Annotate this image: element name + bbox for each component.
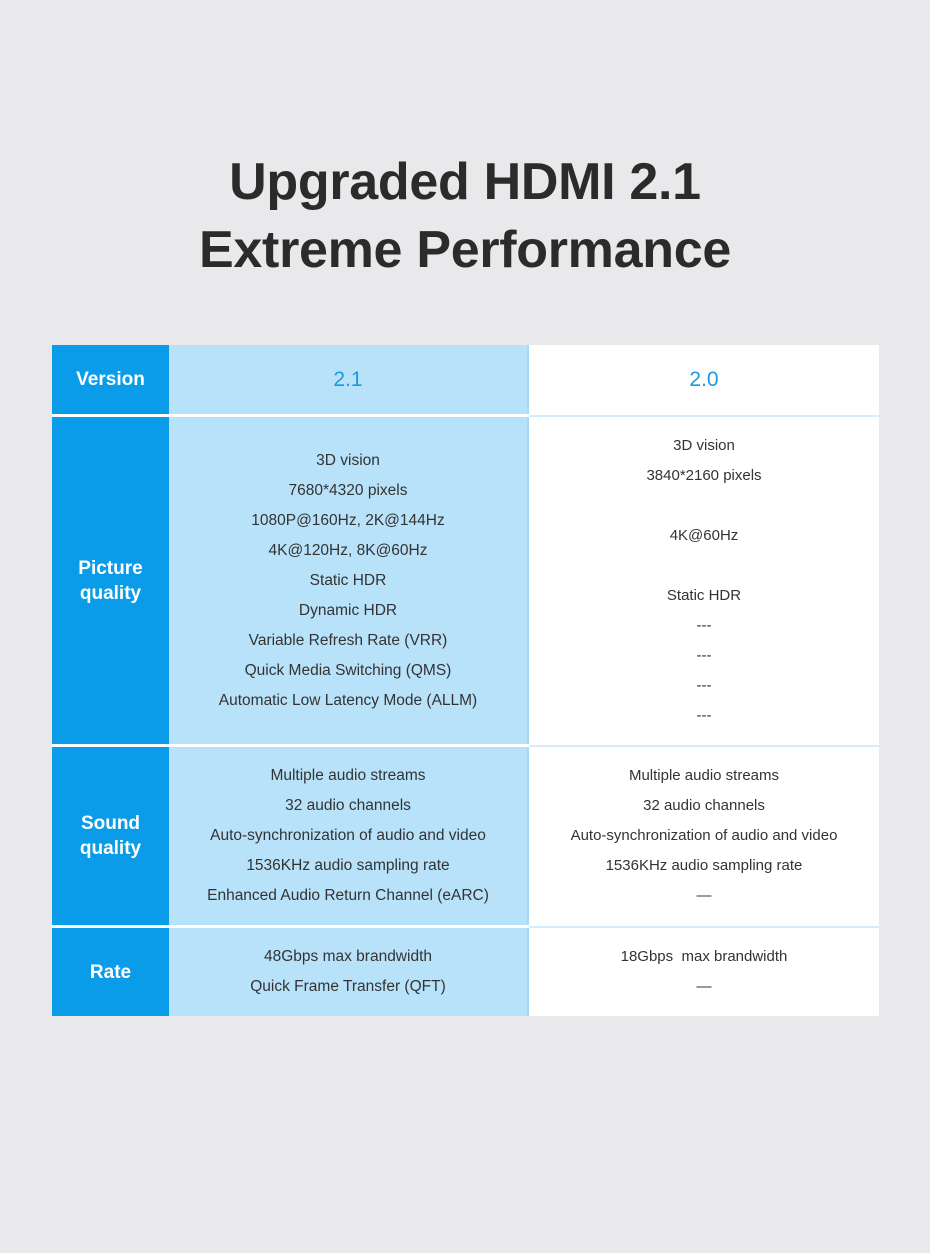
- cell-line: Picture: [52, 556, 169, 581]
- cell-line: 32 audio channels: [537, 791, 871, 821]
- cell-rate-20: 18Gbps max brandwidth—: [528, 927, 879, 1017]
- cell-line: 1080P@160Hz, 2K@144Hz: [177, 506, 519, 536]
- cell-line: 4K@120Hz, 8K@60Hz: [177, 536, 519, 566]
- cell-line: 3840*2160 pixels: [537, 461, 871, 491]
- cell-line: quality: [52, 836, 169, 861]
- table-row: Rate 48Gbps max brandwidthQuick Frame Tr…: [52, 927, 879, 1017]
- cell-lines: 3D vision7680*4320 pixels1080P@160Hz, 2K…: [177, 446, 519, 716]
- cell-line: Multiple audio streams: [177, 761, 519, 791]
- comparison-infographic: Upgraded HDMI 2.1 Extreme Performance Ve…: [0, 0, 930, 1253]
- cell-line: Variable Refresh Rate (VRR): [177, 626, 519, 656]
- cell-line: 18Gbps max brandwidth: [537, 942, 871, 972]
- cell-lines: Multiple audio streams32 audio channelsA…: [177, 761, 519, 911]
- cell-lines: 18Gbps max brandwidth—: [537, 942, 871, 1002]
- hdmi-comparison-table: Version 2.1 2.0 Picturequality 3D vision…: [52, 345, 879, 1016]
- cell-rate-21: 48Gbps max brandwidthQuick Frame Transfe…: [169, 927, 528, 1017]
- cell-line: ---: [537, 641, 871, 671]
- table-row: Picturequality 3D vision7680*4320 pixels…: [52, 416, 879, 746]
- cell-line: Auto-synchronization of audio and video: [537, 821, 871, 851]
- cell-line: quality: [52, 581, 169, 606]
- cell-line: Quick Media Switching (QMS): [177, 656, 519, 686]
- cell-lines: 3D vision3840*2160 pixels 4K@60Hz Static…: [537, 431, 871, 731]
- cell-line: 3D vision: [537, 431, 871, 461]
- cell-line: ---: [537, 701, 871, 731]
- cell-line: Automatic Low Latency Mode (ALLM): [177, 686, 519, 716]
- cell-line: 1536KHz audio sampling rate: [177, 851, 519, 881]
- row-label-lines: Rate: [52, 960, 169, 985]
- cell-lines: Multiple audio streams32 audio channelsA…: [537, 761, 871, 911]
- cell-line: ---: [537, 611, 871, 641]
- cell-sound-quality-21: Multiple audio streams32 audio channelsA…: [169, 746, 528, 927]
- header-label-version: Version: [52, 345, 169, 416]
- cell-line: Enhanced Audio Return Channel (eARC): [177, 881, 519, 911]
- cell-picture-quality-20: 3D vision3840*2160 pixels 4K@60Hz Static…: [528, 416, 879, 746]
- row-label-lines: Picturequality: [52, 556, 169, 606]
- cell-line: Auto-synchronization of audio and video: [177, 821, 519, 851]
- table-row: Soundquality Multiple audio streams32 au…: [52, 746, 879, 927]
- cell-line: 48Gbps max brandwidth: [177, 942, 519, 972]
- page-title-line-2: Extreme Performance: [0, 216, 930, 284]
- cell-line: Rate: [52, 960, 169, 985]
- cell-picture-quality-21: 3D vision7680*4320 pixels1080P@160Hz, 2K…: [169, 416, 528, 746]
- cell-line: Dynamic HDR: [177, 596, 519, 626]
- table-header-row: Version 2.1 2.0: [52, 345, 879, 416]
- row-label-rate: Rate: [52, 927, 169, 1017]
- cell-line: 7680*4320 pixels: [177, 476, 519, 506]
- header-col-21: 2.1: [169, 345, 528, 416]
- row-label-sound-quality: Soundquality: [52, 746, 169, 927]
- row-label-picture-quality: Picturequality: [52, 416, 169, 746]
- cell-line: Quick Frame Transfer (QFT): [177, 972, 519, 1002]
- cell-line: Sound: [52, 811, 169, 836]
- page-title: Upgraded HDMI 2.1 Extreme Performance: [0, 148, 930, 284]
- row-label-lines: Soundquality: [52, 811, 169, 861]
- cell-line: 1536KHz audio sampling rate: [537, 851, 871, 881]
- cell-line: Static HDR: [537, 581, 871, 611]
- cell-line: 32 audio channels: [177, 791, 519, 821]
- header-col-20: 2.0: [528, 345, 879, 416]
- cell-lines: 48Gbps max brandwidthQuick Frame Transfe…: [177, 942, 519, 1002]
- cell-sound-quality-20: Multiple audio streams32 audio channelsA…: [528, 746, 879, 927]
- cell-line: —: [537, 972, 871, 1002]
- page-title-line-1: Upgraded HDMI 2.1: [0, 148, 930, 216]
- cell-line: 3D vision: [177, 446, 519, 476]
- cell-line: —: [537, 881, 871, 911]
- cell-line: Static HDR: [177, 566, 519, 596]
- cell-line: Multiple audio streams: [537, 761, 871, 791]
- cell-line: 4K@60Hz: [537, 521, 871, 551]
- cell-line: ---: [537, 671, 871, 701]
